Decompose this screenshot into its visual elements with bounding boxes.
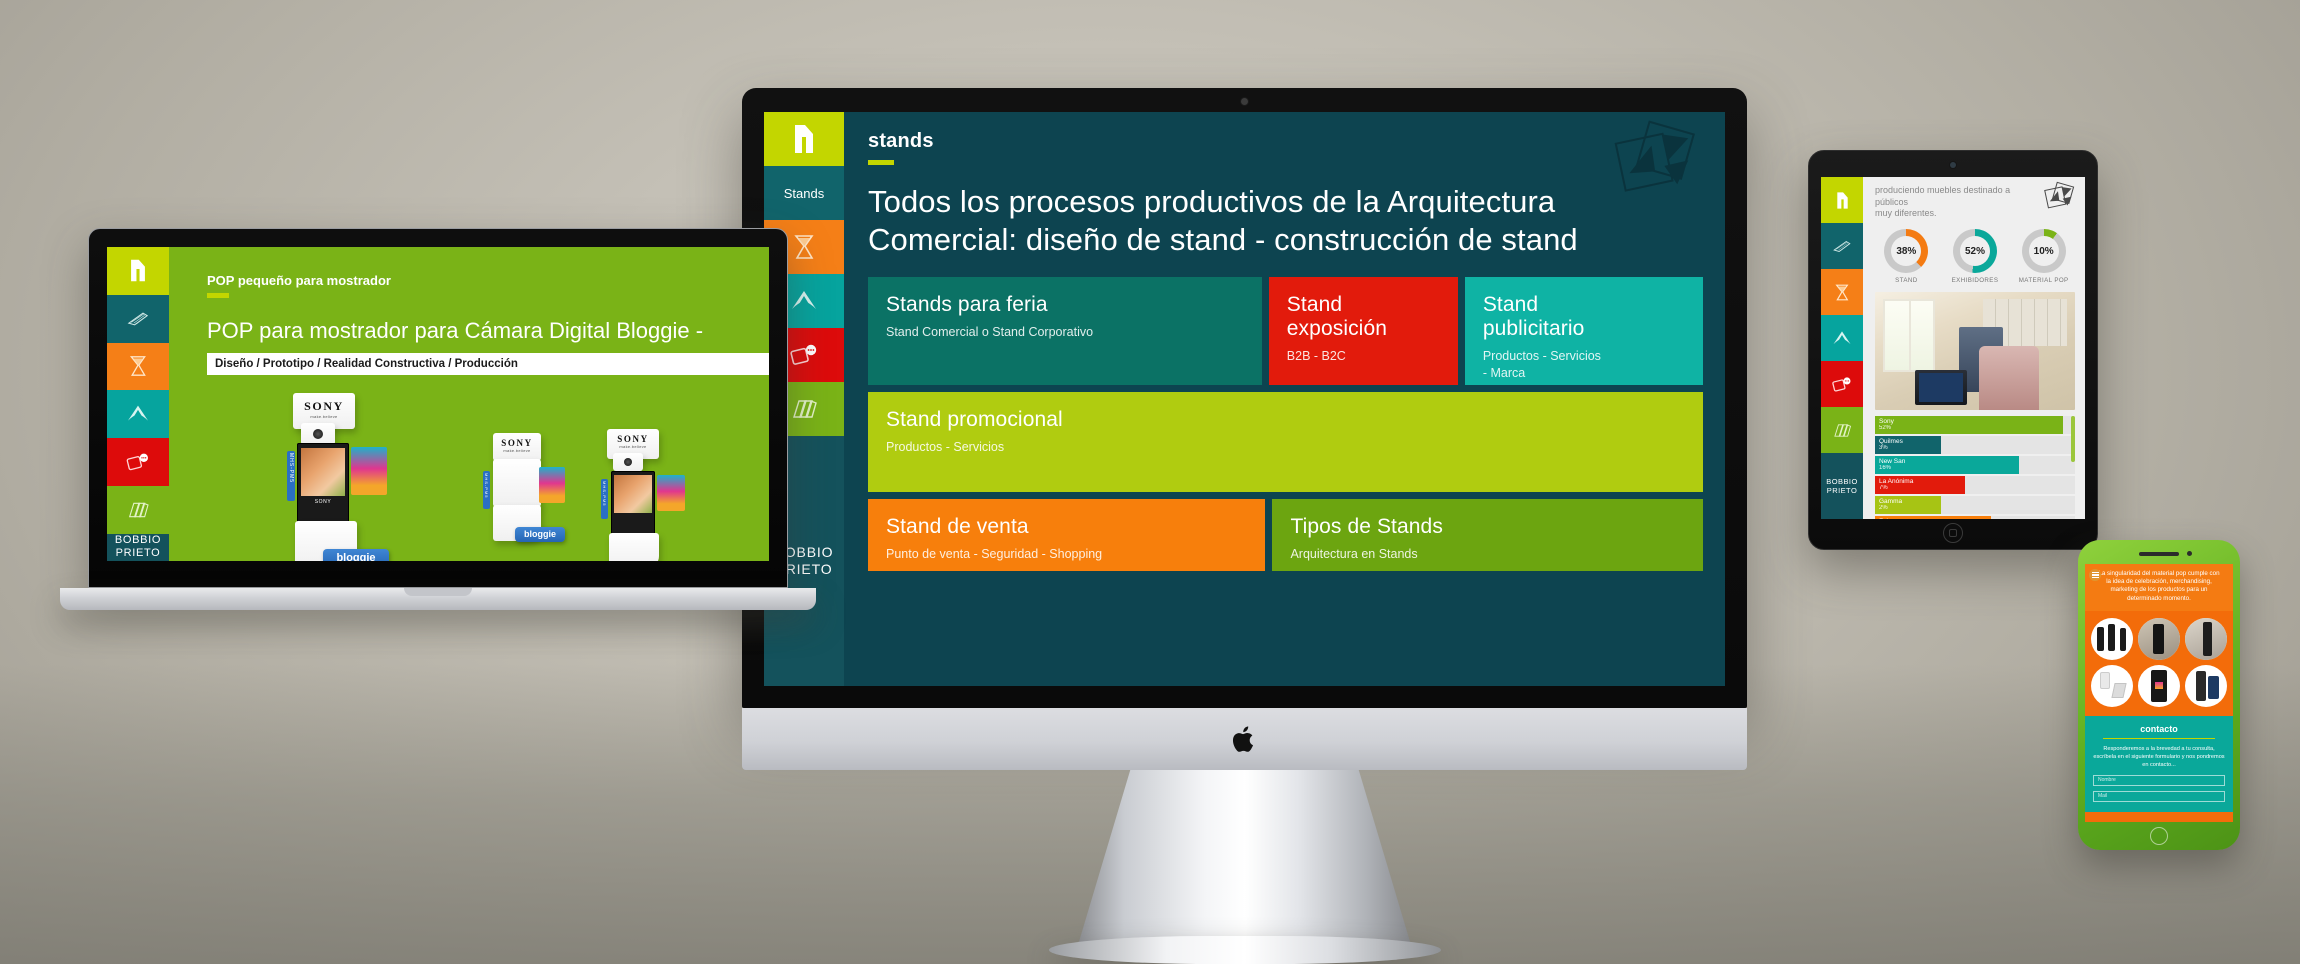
product-gallery: SONY make.believe SONY MHS-PM5 bbox=[207, 385, 769, 561]
camera-lens-icon bbox=[313, 429, 323, 439]
apple-logo-icon bbox=[1232, 724, 1258, 755]
tile-subtitle: Productos - Servicios bbox=[886, 439, 1685, 456]
ipad-body: BOBBIO PRIETO prod bbox=[1808, 150, 2098, 550]
donut-label: EXHIBIDORES bbox=[1944, 277, 2007, 284]
logo-home-icon bbox=[791, 123, 817, 155]
sidebar-item-proyectos[interactable] bbox=[107, 486, 169, 534]
scrollbar-thumb[interactable] bbox=[2071, 416, 2075, 462]
abstract-squares-icon bbox=[1611, 118, 1703, 210]
bar-value: 3% bbox=[1879, 445, 1941, 451]
tile-title: Stand promocional bbox=[886, 408, 1685, 432]
product-code-tag: MHS-PM5 bbox=[601, 479, 608, 519]
sony-wordmark: SONY bbox=[493, 438, 541, 448]
tile-stand-venta[interactable]: Stand de venta Punto de venta - Segurida… bbox=[868, 499, 1265, 571]
sidebar-item-stands[interactable]: Stands bbox=[764, 166, 844, 220]
imac-camera-icon bbox=[1241, 98, 1248, 105]
stands-icon bbox=[126, 309, 150, 329]
layers-icon bbox=[126, 500, 150, 520]
exhibidor-icon bbox=[1834, 283, 1850, 302]
tile-title: Tipos de Stands bbox=[1290, 515, 1685, 539]
bar-label: La Anónima bbox=[1879, 479, 1965, 486]
arch-icon bbox=[790, 289, 818, 313]
arch-icon bbox=[126, 404, 150, 424]
pop-display-2[interactable]: SONY make.believe MHS-PM5 bloggie bbox=[477, 433, 573, 561]
imac-bezel: Stands BOBBIO bbox=[742, 88, 1747, 708]
sidebar-item-exhibidores[interactable] bbox=[1821, 269, 1863, 315]
iphone-device: La singularidad del material pop cumple … bbox=[2078, 540, 2240, 850]
process-bar: Diseño / Prototipo / Realidad Constructi… bbox=[207, 353, 769, 375]
donut-stand: 38% STAND bbox=[1875, 229, 1938, 284]
kicker-underline bbox=[207, 293, 229, 298]
gallery-item-2[interactable] bbox=[2138, 618, 2180, 660]
sony-device-label: SONY bbox=[297, 499, 349, 505]
sidebar-item-home[interactable] bbox=[107, 247, 169, 295]
ipad-screen: BOBBIO PRIETO prod bbox=[1821, 177, 2085, 519]
chat-pop-icon bbox=[1832, 376, 1852, 393]
brand-logo[interactable]: BOBBIO PRIETO bbox=[1821, 453, 1863, 519]
ipad-home-button[interactable] bbox=[1943, 523, 1963, 543]
bloggie-label: bloggie bbox=[515, 527, 565, 542]
page-kicker: POP pequeño para mostrador bbox=[207, 273, 769, 288]
bar-label: Sony bbox=[1879, 419, 2063, 426]
sidebar-item-arquitectura[interactable] bbox=[107, 390, 169, 438]
donut-chart-group: 38% STAND 52% EXHIBIDORES bbox=[1875, 229, 2075, 284]
sony-tagline: make.believe bbox=[607, 444, 659, 449]
product-code-tag: MHS-PM5 bbox=[287, 451, 295, 501]
sidebar-item-proyectos[interactable] bbox=[1821, 407, 1863, 453]
sidebar-item-label: Stands bbox=[784, 186, 824, 201]
tile-stand-exposicion[interactable]: Stand exposición B2B - B2C bbox=[1269, 277, 1458, 385]
sony-tagline: make.believe bbox=[293, 414, 355, 419]
ipad-device: BOBBIO PRIETO prod bbox=[1808, 150, 2098, 550]
intro-line-2: muy diferentes. bbox=[1875, 208, 1937, 218]
tile-subtitle: Punto de venta - Seguridad - Shopping bbox=[886, 546, 1247, 563]
chat-pop-icon bbox=[126, 452, 150, 472]
hamburger-icon[interactable] bbox=[2089, 569, 2101, 581]
layers-icon bbox=[790, 397, 818, 421]
pop-gallery-grid bbox=[2085, 611, 2233, 716]
gallery-item-5[interactable] bbox=[2138, 665, 2180, 707]
tile-subtitle: B2B - B2C bbox=[1287, 348, 1440, 365]
donut-ring: 52% bbox=[1953, 229, 1997, 273]
camera-lens-icon bbox=[624, 458, 632, 466]
brand-line-1: BOBBIO bbox=[1826, 477, 1857, 486]
sidebar-item-stands[interactable] bbox=[107, 295, 169, 343]
bar-label: Frávega bbox=[1879, 519, 1991, 520]
tile-subtitle: Productos - Servicios - Marca bbox=[1483, 348, 1685, 382]
sidebar-item-contacto[interactable] bbox=[107, 438, 169, 486]
pop-display-1[interactable]: SONY make.believe SONY MHS-PM5 bbox=[267, 393, 397, 561]
iphone-home-button[interactable] bbox=[2150, 827, 2168, 845]
sidebar-item-arquitectura[interactable] bbox=[1821, 315, 1863, 361]
logo-home-icon bbox=[128, 258, 148, 283]
bar-value: 52% bbox=[1879, 425, 2063, 431]
macbook-base bbox=[60, 588, 816, 610]
page-title-line-1: Todos los procesos productivos de la Arq… bbox=[868, 184, 1555, 219]
bar-row: Gamma 2% bbox=[1875, 496, 2075, 514]
iphone-speaker bbox=[2139, 552, 2179, 556]
ipad-site: BOBBIO PRIETO prod bbox=[1821, 177, 2085, 519]
donut-ring: 38% bbox=[1884, 229, 1928, 273]
sidebar-item-stands[interactable] bbox=[1821, 223, 1863, 269]
imac-stand-neck bbox=[1077, 770, 1413, 950]
exhibidor-icon bbox=[128, 354, 148, 378]
donut-ring: 10% bbox=[2022, 229, 2066, 273]
tile-title: Stand exposición bbox=[1287, 293, 1440, 342]
bar-value: 7% bbox=[1879, 485, 1965, 491]
bar-row: New San 16% bbox=[1875, 456, 2075, 474]
sony-tagline: make.believe bbox=[493, 448, 541, 453]
gallery-item-3[interactable] bbox=[2185, 618, 2227, 660]
brand-line-1: BOBBIO bbox=[115, 534, 161, 548]
tile-stands-feria[interactable]: Stands para feria Stand Comercial o Stan… bbox=[868, 277, 1262, 385]
client-bar-chart: Sony 52% Quilmes 3% New bbox=[1875, 416, 2075, 519]
bar-label: Gamma bbox=[1879, 499, 1941, 506]
donut-material-pop: 10% MATERIAL POP bbox=[2012, 229, 2075, 284]
contact-title: contacto bbox=[2093, 724, 2225, 734]
donut-exhibidores: 52% EXHIBIDORES bbox=[1944, 229, 2007, 284]
imac-screen: Stands BOBBIO bbox=[764, 112, 1725, 686]
intro-text: La singularidad del material pop cumple … bbox=[2092, 570, 2226, 603]
macbook-screen: BOBBIO PRIETO POP pequeño para mostrador… bbox=[107, 247, 769, 561]
donut-value: 52% bbox=[1953, 229, 1997, 273]
brand-line-2: PRIETO bbox=[116, 547, 161, 561]
arch-icon bbox=[1832, 330, 1852, 347]
page-title: POP para mostrador para Cámara Digital B… bbox=[207, 318, 769, 344]
iphone-screen: La singularidad del material pop cumple … bbox=[2085, 564, 2233, 822]
gallery-item-6[interactable] bbox=[2185, 665, 2227, 707]
imac-site: Stands BOBBIO bbox=[764, 112, 1725, 686]
page-title: Todos los procesos productivos de la Arq… bbox=[868, 183, 1703, 259]
macbook-main: POP pequeño para mostrador POP para most… bbox=[169, 247, 769, 561]
macbook-site: BOBBIO PRIETO POP pequeño para mostrador… bbox=[107, 247, 769, 561]
page-kicker: stands bbox=[868, 130, 1703, 153]
sony-wordmark: SONY bbox=[607, 434, 659, 444]
imac-stand-foot bbox=[1049, 936, 1441, 964]
bar-row: Quilmes 3% bbox=[1875, 436, 2075, 454]
contact-underline bbox=[2103, 738, 2215, 740]
imac-main: stands Todos los procesos productivos de… bbox=[844, 112, 1725, 686]
bar-row: Sony 52% bbox=[1875, 416, 2075, 434]
tile-row-3: Stand de venta Punto de venta - Segurida… bbox=[868, 499, 1703, 571]
logo-home-icon bbox=[1835, 191, 1850, 210]
product-code-tag: MHS-PM5 bbox=[483, 471, 490, 509]
tile-subtitle: Arquitectura en Stands bbox=[1290, 546, 1685, 563]
imac-chin bbox=[742, 708, 1747, 770]
iphone-camera-icon bbox=[2187, 551, 2192, 556]
photo-person-seated bbox=[1979, 346, 2039, 410]
gallery-item-1[interactable] bbox=[2091, 618, 2133, 660]
bar-value: 2% bbox=[1879, 505, 1941, 511]
bar-row: La Anónima 7% bbox=[1875, 476, 2075, 494]
tile-title: Stands para feria bbox=[886, 293, 1244, 317]
sidebar-item-contacto[interactable] bbox=[1821, 361, 1863, 407]
donut-label: STAND bbox=[1875, 277, 1938, 284]
donut-value: 38% bbox=[1884, 229, 1928, 273]
bar-label: New San bbox=[1879, 459, 2019, 466]
macbook-lid: BOBBIO PRIETO POP pequeño para mostrador… bbox=[88, 228, 788, 588]
tile-stand-publicitario[interactable]: Stand publicitario Productos - Servicios… bbox=[1465, 277, 1703, 385]
promo-swatch bbox=[351, 447, 387, 495]
imac-device: Stands BOBBIO bbox=[742, 88, 1747, 788]
kicker-underline bbox=[868, 160, 894, 165]
donut-value: 10% bbox=[2022, 229, 2066, 273]
bar-row: Frávega 11% bbox=[1875, 516, 2075, 519]
gallery-item-4[interactable] bbox=[2091, 665, 2133, 707]
macbook-device: BOBBIO PRIETO POP pequeño para mostrador… bbox=[88, 228, 788, 648]
sony-wordmark: SONY bbox=[293, 399, 355, 414]
exhibidor-icon bbox=[792, 233, 816, 261]
tile-row-1: Stands para feria Stand Comercial o Stan… bbox=[868, 277, 1703, 385]
tile-title: Stand de venta bbox=[886, 515, 1247, 539]
photo-window bbox=[1883, 299, 1935, 372]
intro-line-1: produciendo muebles destinado a públicos bbox=[1875, 185, 2010, 207]
layers-icon bbox=[1832, 422, 1852, 439]
ipad-main: produciendo muebles destinado a públicos… bbox=[1863, 177, 2085, 519]
sidebar-item-home[interactable] bbox=[1821, 177, 1863, 223]
ipad-camera-icon bbox=[1950, 162, 1956, 168]
tile-tipos-stands[interactable]: Tipos de Stands Arquitectura en Stands bbox=[1272, 499, 1703, 571]
abstract-squares-icon bbox=[2043, 181, 2077, 215]
tile-row-2: Stand promocional Productos - Servicios bbox=[868, 392, 1703, 492]
sidebar-nav[interactable]: BOBBIO PRIETO bbox=[1821, 177, 1863, 519]
sidebar-item-exhibidores[interactable] bbox=[107, 343, 169, 391]
brand-logo[interactable]: BOBBIO PRIETO bbox=[107, 534, 169, 562]
pop-display-3[interactable]: SONY make.believe MHS-PM5 bbox=[587, 429, 697, 561]
tile-stand-promocional[interactable]: Stand promocional Productos - Servicios bbox=[868, 392, 1703, 492]
donut-label: MATERIAL POP bbox=[2012, 277, 2075, 284]
nombre-field[interactable]: Nombre bbox=[2093, 775, 2225, 786]
promo-swatch bbox=[657, 475, 685, 511]
contact-body: Responderemos a la brevedad a tu consult… bbox=[2093, 746, 2225, 769]
brand-line-2: PRIETO bbox=[1827, 486, 1858, 495]
tile-title: Stand publicitario bbox=[1483, 293, 1685, 342]
bar-label: Quilmes bbox=[1879, 439, 1941, 446]
mail-field[interactable]: Mail bbox=[2093, 791, 2225, 802]
stands-icon bbox=[1832, 238, 1852, 255]
photo-laptop bbox=[1915, 370, 1967, 405]
macbook-latch bbox=[404, 588, 472, 596]
promo-swatch bbox=[539, 467, 565, 503]
sidebar-item-home[interactable] bbox=[764, 112, 844, 166]
iphone-body: La singularidad del material pop cumple … bbox=[2078, 540, 2240, 850]
tile-grid: Stands para feria Stand Comercial o Stan… bbox=[868, 277, 1703, 571]
chat-pop-icon bbox=[790, 343, 818, 367]
team-photo bbox=[1875, 292, 2075, 410]
contact-section: contacto Responderemos a la brevedad a t… bbox=[2085, 716, 2233, 812]
sidebar-nav[interactable]: BOBBIO PRIETO bbox=[107, 247, 169, 561]
bar-value: 16% bbox=[1879, 465, 2019, 471]
bloggie-label: bloggie bbox=[323, 549, 389, 561]
page-title-line-2: Comercial: diseño de stand - construcció… bbox=[868, 222, 1578, 257]
tile-subtitle: Stand Comercial o Stand Corporativo bbox=[886, 324, 1244, 341]
iphone-pop-section: La singularidad del material pop cumple … bbox=[2085, 564, 2233, 611]
